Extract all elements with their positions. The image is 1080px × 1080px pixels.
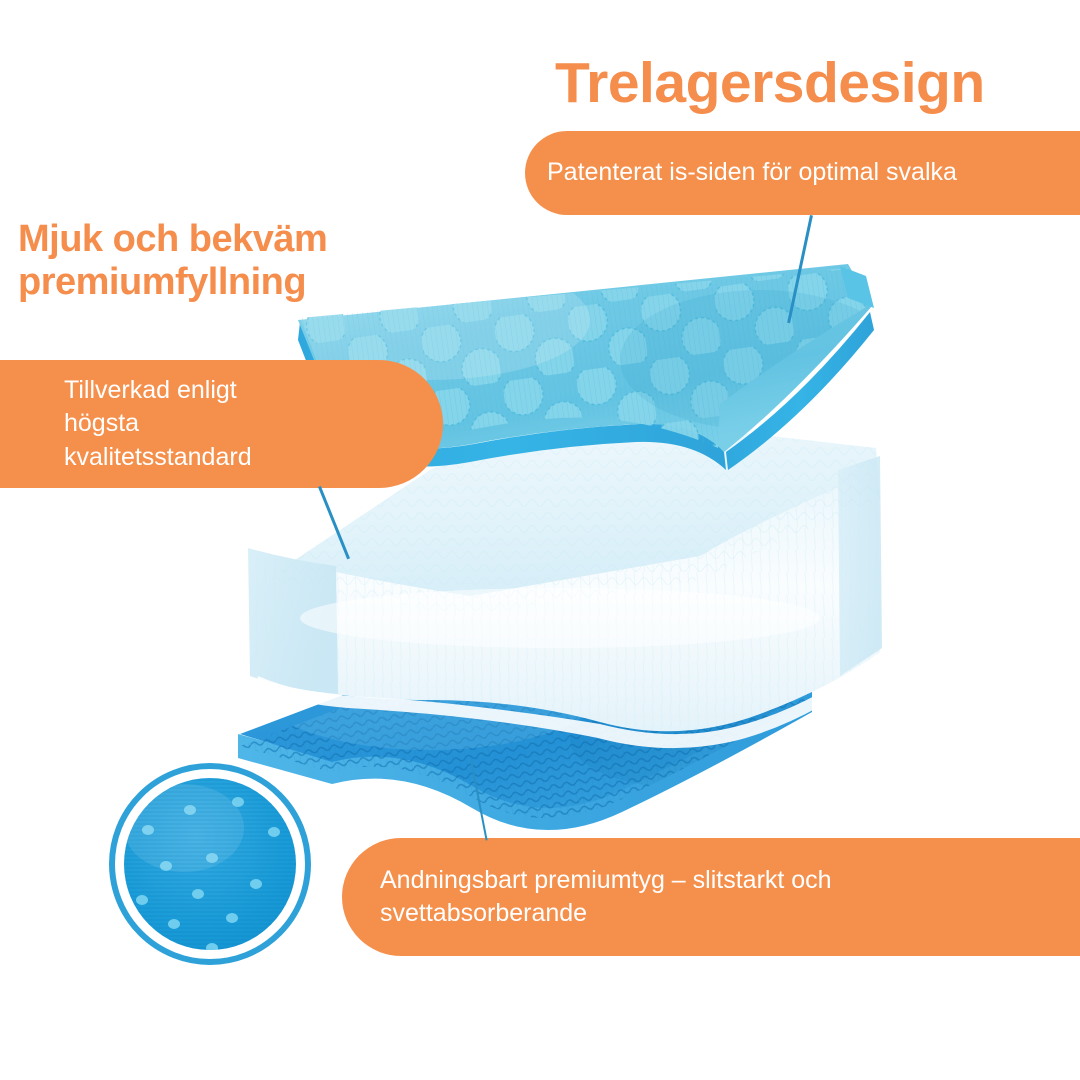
- callout-banner-quality-standard: Tillverkad enligt högsta kvalitetsstanda…: [0, 360, 443, 488]
- infographic-canvas: Trelagersdesign Mjuk och bekväm premiumf…: [0, 0, 1080, 1080]
- page-title: Trelagersdesign: [555, 52, 985, 116]
- secondary-title: Mjuk och bekväm premiumfyllning: [18, 218, 327, 303]
- callout-banner-ice-silk: Patenterat is-siden för optimal svalka: [525, 131, 1080, 215]
- fabric-closeup-circle: [104, 758, 316, 970]
- callout-banner-breathable-fabric: Andningsbart premiumtyg – slitstarkt och…: [342, 838, 1080, 956]
